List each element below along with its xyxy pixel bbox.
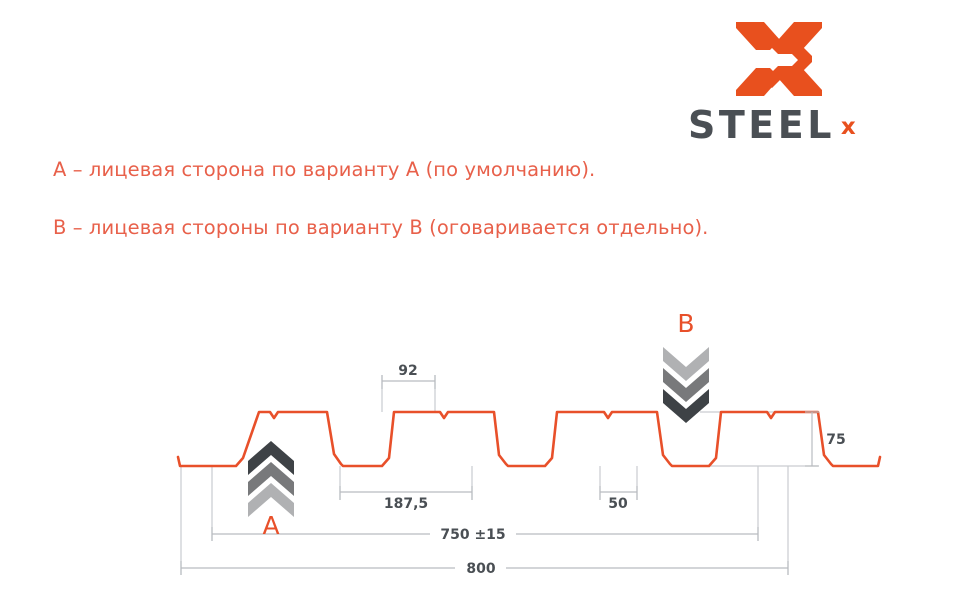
dimension-label-750: 750 ±15	[440, 527, 505, 543]
dimension-label-800: 800	[466, 561, 495, 577]
marker-a-label: A	[262, 511, 279, 540]
dimension-label-92: 92	[398, 363, 417, 379]
dimension-label-75: 75	[826, 432, 845, 448]
dimension-cover-width: 750 ±15	[212, 527, 758, 543]
dimension-label-187-5: 187,5	[384, 496, 428, 512]
marker-b-label: B	[677, 309, 694, 338]
chevron-up-triple-icon	[248, 441, 294, 517]
dimension-rib-top-width: 92	[382, 363, 435, 389]
dimension-pitch: 187,5	[340, 486, 472, 512]
profile-technical-drawing: 92 187,5 50 750 ±15 800 75	[0, 0, 970, 597]
marker-b: B	[663, 309, 709, 423]
marker-a: A	[248, 441, 294, 540]
dimension-overall-width: 800	[181, 561, 788, 577]
dimension-valley-width: 50	[600, 486, 637, 512]
dimension-label-50: 50	[608, 496, 628, 512]
